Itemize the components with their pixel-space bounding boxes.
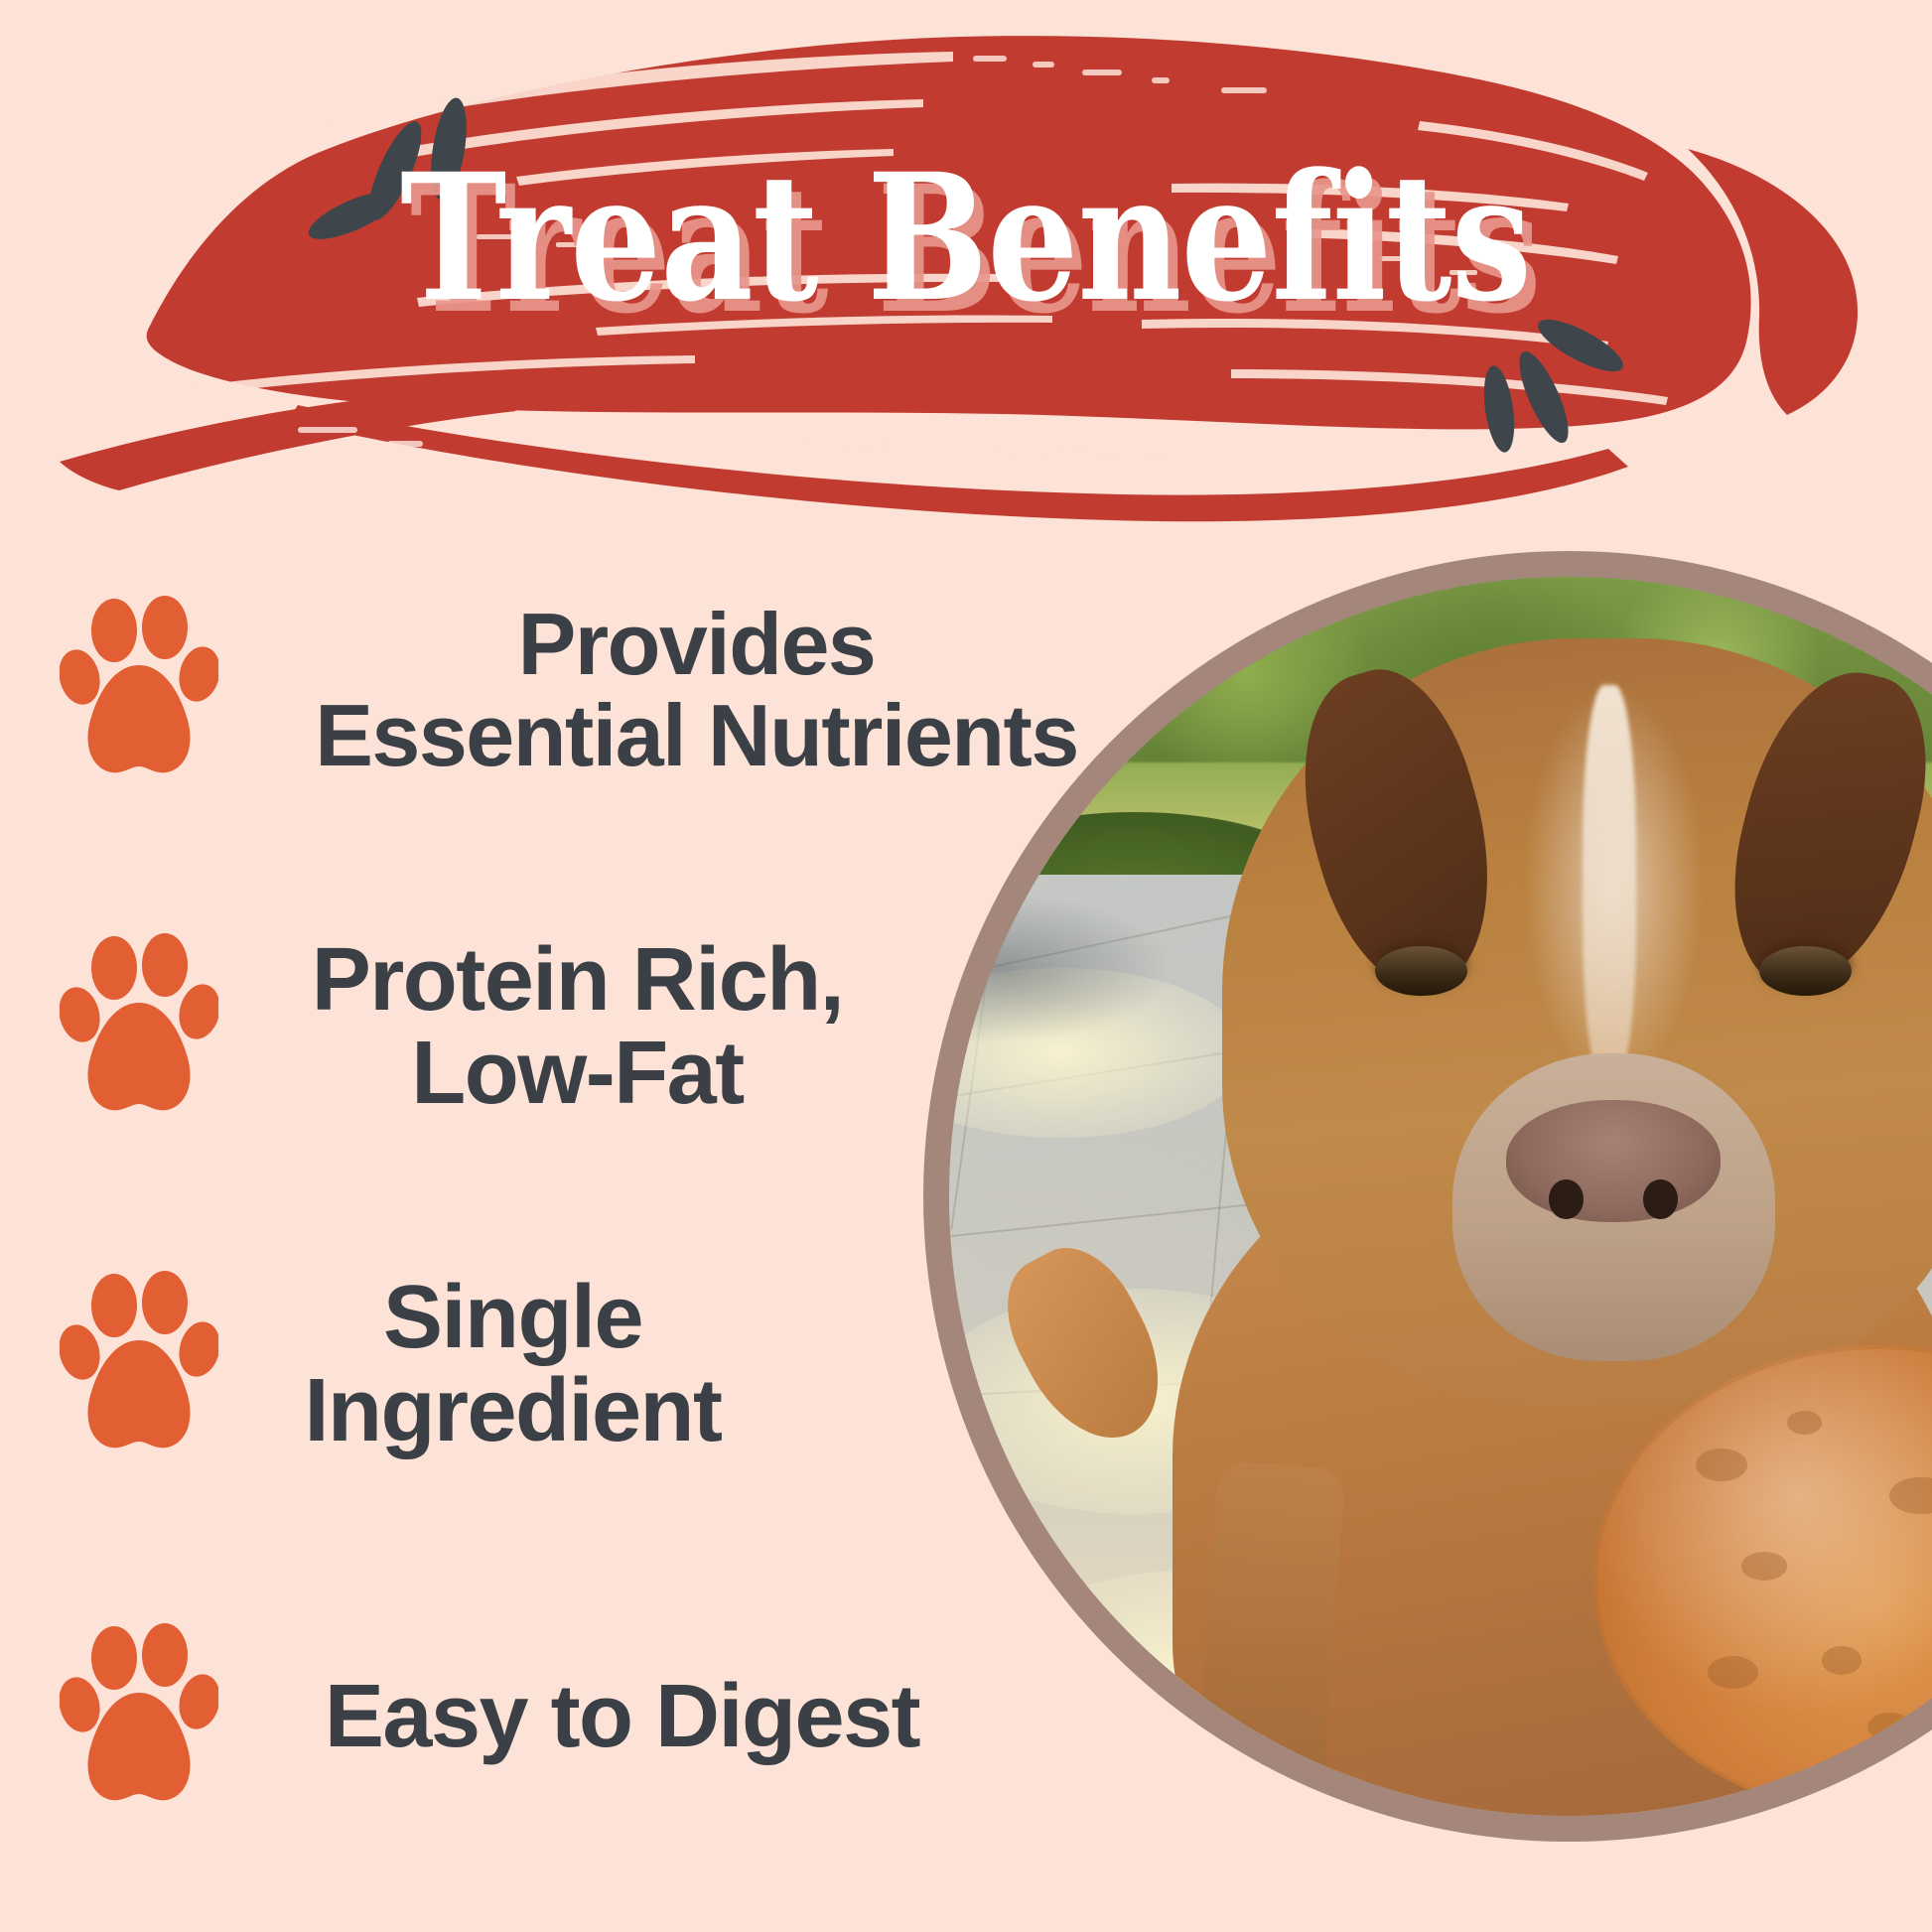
paw-icon-glyph	[60, 1623, 218, 1812]
benefit-line: Low-Fat	[236, 1028, 918, 1121]
red-brush-stroke	[0, 0, 1932, 526]
dog-nose	[1506, 1100, 1722, 1223]
dog-photo-scene	[949, 577, 1932, 1816]
dog-eye-left	[1375, 946, 1467, 996]
benefit-line: Single	[236, 1272, 789, 1365]
paw-icon-glyph	[60, 1271, 218, 1459]
poster-canvas: Treat Benefits Provides Essential Nut	[0, 0, 1932, 1932]
dog-eye-right	[1759, 946, 1852, 996]
paw-icon	[60, 933, 218, 1122]
paw-icon	[60, 1271, 218, 1459]
dog-head	[1222, 638, 1932, 1407]
dog-nostril-right	[1643, 1179, 1678, 1219]
paw-icon-glyph	[60, 933, 218, 1122]
dog-photo-ring	[923, 551, 1932, 1842]
paw-icon	[60, 596, 218, 784]
paw-icon-glyph	[60, 596, 218, 784]
header-banner: Treat Benefits	[0, 0, 1932, 526]
benefit-line: Protein Rich,	[236, 934, 918, 1028]
dog-nostril-left	[1549, 1179, 1584, 1219]
dog-photo	[949, 577, 1932, 1816]
paw-icon	[60, 1623, 218, 1812]
dog-forehead-blaze	[1583, 685, 1636, 1084]
benefit-line: Easy to Digest	[236, 1671, 1008, 1764]
benefit-line: Ingredient	[236, 1365, 789, 1458]
